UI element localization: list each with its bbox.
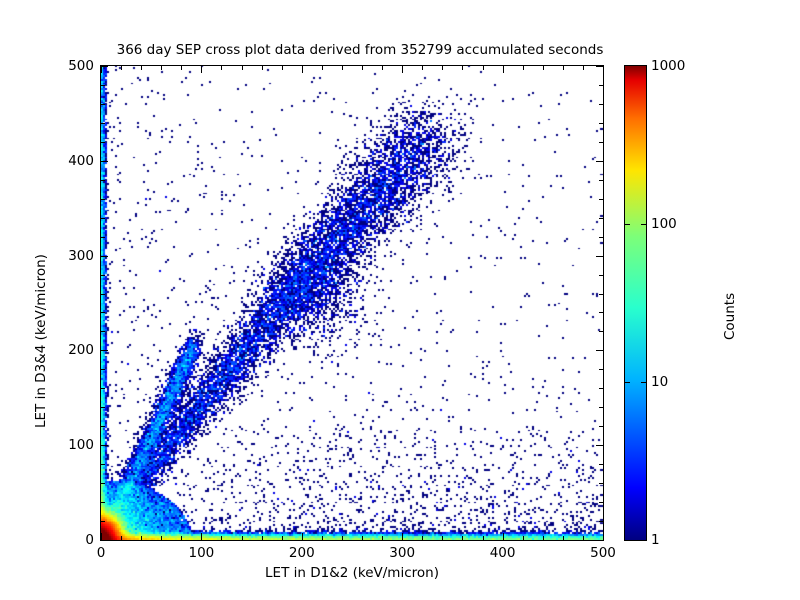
y-tick-right-400 [596,161,603,162]
y-minor-tick [101,464,105,465]
x-minor-tick [563,536,564,540]
x-minor-tick [583,536,584,540]
x-tick-label-200: 200 [289,545,315,561]
y-tick-500 [101,66,108,67]
x-minor-tick [523,536,524,540]
y-tick-right-0 [596,540,603,541]
x-tick-400 [503,533,504,540]
x-minor-tick [262,536,263,540]
y-tick-200 [101,350,108,351]
x-minor-tick-top [442,66,443,70]
y-tick-label-0: 0 [52,532,94,548]
x-minor-tick [483,536,484,540]
x-minor-tick [161,536,162,540]
x-minor-tick [362,536,363,540]
y-minor-tick-right [599,312,603,313]
title-line-1: 366 day SEP cross plot data derived from… [0,42,720,59]
x-minor-tick-top [342,66,343,70]
x-tick-0 [101,533,102,540]
x-minor-tick [543,536,544,540]
y-tick-right-500 [596,66,603,67]
y-minor-tick-right [599,142,603,143]
colorbar-tick-label-100: 100 [651,216,677,232]
y-minor-tick-right [599,294,603,295]
x-minor-tick [141,536,142,540]
colorbar-tick-label-1000: 1000 [651,58,685,74]
x-tick-top-100 [201,66,202,73]
y-minor-tick [101,123,105,124]
scatter-density-canvas [101,66,603,540]
y-tick-400 [101,161,108,162]
x-minor-tick-top [422,66,423,70]
x-tick-top-500 [603,66,604,73]
y-minor-tick [101,388,105,389]
x-tick-label-300: 300 [389,545,415,561]
y-tick-label-200: 200 [52,342,94,358]
y-tick-right-300 [596,256,603,257]
y-minor-tick-right [599,464,603,465]
x-minor-tick [422,536,423,540]
y-minor-tick-right [599,388,603,389]
y-tick-right-200 [596,350,603,351]
x-minor-tick-top [121,66,122,70]
x-minor-tick-top [322,66,323,70]
x-minor-tick [462,536,463,540]
x-tick-top-200 [302,66,303,73]
x-tick-top-0 [101,66,102,73]
x-minor-tick-top [141,66,142,70]
y-minor-tick-right [599,180,603,181]
x-minor-tick-top [563,66,564,70]
colorbar-tick-right-10 [641,382,646,383]
y-minor-tick [101,104,105,105]
y-minor-tick [101,180,105,181]
x-minor-tick-top [161,66,162,70]
x-tick-label-400: 400 [490,545,516,561]
colorbar[interactable] [624,65,647,541]
y-minor-tick [101,199,105,200]
y-tick-100 [101,445,108,446]
x-minor-tick [282,536,283,540]
y-minor-tick [101,426,105,427]
y-minor-tick-right [599,237,603,238]
x-minor-tick [181,536,182,540]
y-minor-tick-right [599,199,603,200]
x-axis-label: LET in D1&2 (keV/micron) [100,565,604,581]
y-minor-tick-right [599,85,603,86]
y-tick-300 [101,256,108,257]
x-tick-top-300 [402,66,403,73]
y-minor-tick [101,218,105,219]
x-tick-100 [201,533,202,540]
x-minor-tick-top [221,66,222,70]
x-tick-200 [302,533,303,540]
y-tick-label-400: 400 [52,153,94,169]
y-minor-tick-right [599,426,603,427]
x-minor-tick-top [523,66,524,70]
x-minor-tick-top [382,66,383,70]
x-minor-tick-top [181,66,182,70]
y-minor-tick-right [599,407,603,408]
x-minor-tick [242,536,243,540]
plot-area[interactable] [100,65,604,541]
x-minor-tick-top [543,66,544,70]
y-minor-tick [101,407,105,408]
colorbar-label: Counts [722,293,738,340]
x-minor-tick [221,536,222,540]
y-minor-tick [101,369,105,370]
y-tick-label-100: 100 [52,437,94,453]
colorbar-tick-10 [625,382,630,383]
x-tick-300 [402,533,403,540]
x-minor-tick [442,536,443,540]
x-minor-tick-top [282,66,283,70]
y-minor-tick [101,294,105,295]
colorbar-tick-label-10: 10 [651,374,668,390]
colorbar-tick-label-1: 1 [651,532,660,548]
y-minor-tick-right [599,123,603,124]
y-tick-label-300: 300 [52,248,94,264]
y-minor-tick-right [599,218,603,219]
x-minor-tick-top [262,66,263,70]
x-minor-tick-top [483,66,484,70]
colorbar-tick-100 [625,224,630,225]
y-tick-0 [101,540,108,541]
y-minor-tick [101,312,105,313]
y-tick-label-500: 500 [52,58,94,74]
y-minor-tick-right [599,331,603,332]
y-minor-tick [101,142,105,143]
colorbar-tick-right-100 [641,224,646,225]
y-minor-tick-right [599,275,603,276]
y-minor-tick-right [599,502,603,503]
x-minor-tick [342,536,343,540]
y-minor-tick-right [599,104,603,105]
y-tick-right-100 [596,445,603,446]
x-minor-tick-top [462,66,463,70]
y-minor-tick-right [599,369,603,370]
x-minor-tick [121,536,122,540]
x-tick-label-100: 100 [189,545,215,561]
y-axis-label: LET in D3&4 (keV/micron) [33,254,49,428]
y-minor-tick [101,331,105,332]
x-minor-tick-top [362,66,363,70]
y-minor-tick [101,237,105,238]
y-minor-tick-right [599,521,603,522]
y-minor-tick [101,521,105,522]
y-minor-tick [101,85,105,86]
x-minor-tick [382,536,383,540]
y-minor-tick [101,483,105,484]
x-minor-tick-top [242,66,243,70]
y-minor-tick [101,502,105,503]
y-minor-tick [101,275,105,276]
x-tick-label-500: 500 [590,545,616,561]
y-minor-tick-right [599,483,603,484]
x-minor-tick-top [583,66,584,70]
colorbar-gradient [625,66,646,540]
x-tick-500 [603,533,604,540]
x-minor-tick [322,536,323,540]
x-tick-top-400 [503,66,504,73]
x-tick-label-0: 0 [97,545,106,561]
